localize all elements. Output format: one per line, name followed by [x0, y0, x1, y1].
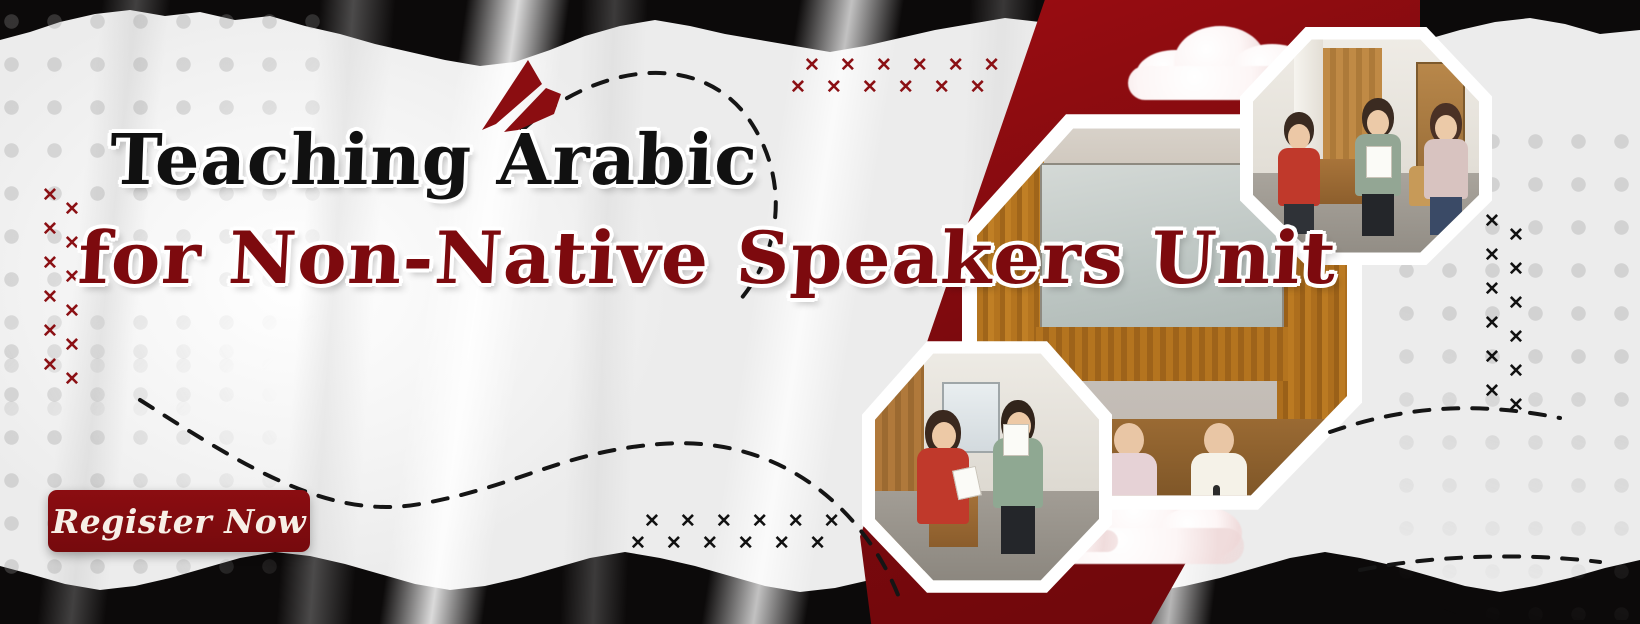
register-now-button[interactable]: Register Now — [48, 490, 310, 552]
photo-frame-students-reading — [862, 336, 1112, 598]
register-now-label: Register Now — [52, 502, 306, 541]
photo-students-reading — [875, 349, 1099, 585]
headline-group: Teaching Arabic for Non-Native Speakers … — [110, 118, 1010, 300]
promo-banner: ✕✕✕✕✕✕ ✕✕✕✕✕✕ ✕✕✕✕✕✕ ✕✕✕✕✕✕ ✕✕✕✕✕✕ ✕✕✕✕✕… — [0, 0, 1640, 624]
headline-line-1: Teaching Arabic — [109, 118, 1012, 201]
headline-line-2: for Non-Native Speakers Unit — [76, 215, 1026, 300]
